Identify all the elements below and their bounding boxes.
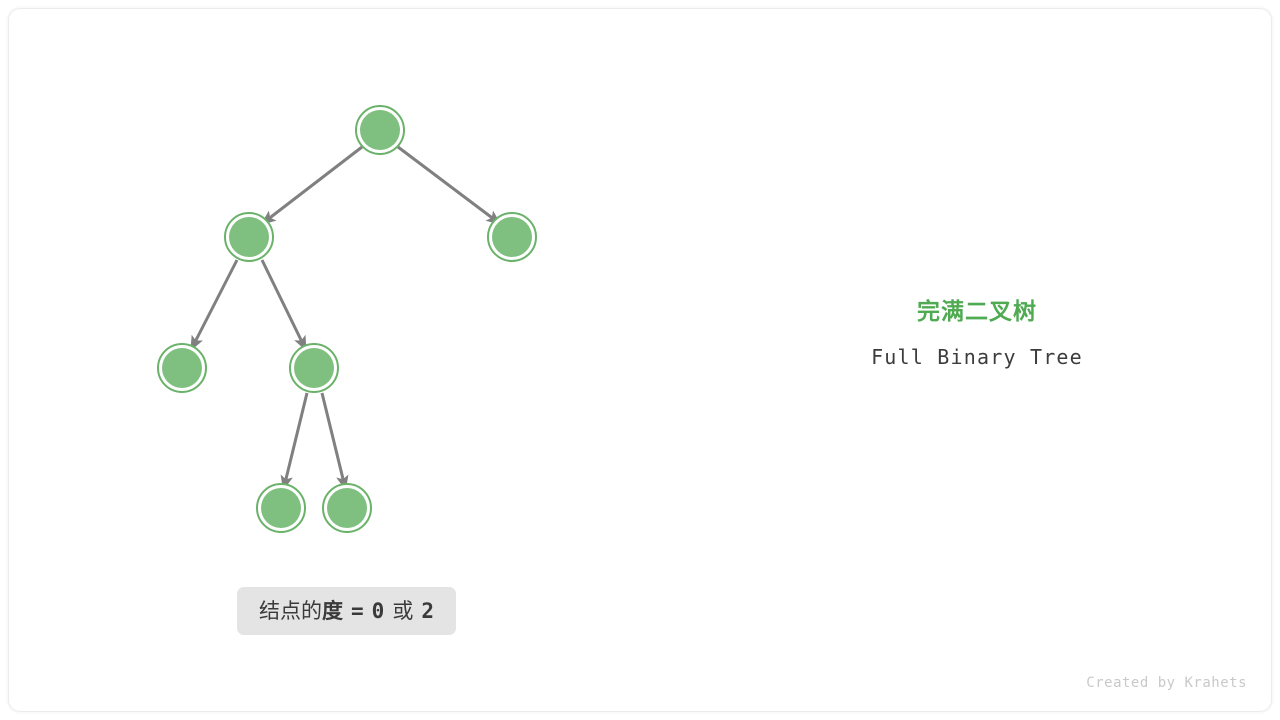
badge-value-two: 2 bbox=[421, 599, 434, 623]
edge-left-to-leftleft bbox=[194, 260, 237, 344]
tree-node-right[interactable] bbox=[488, 213, 536, 261]
tree-nodes bbox=[158, 106, 536, 532]
legend-block: 完满二叉树 Full Binary Tree bbox=[777, 297, 1177, 370]
credit-text: Created by Krahets bbox=[1086, 675, 1247, 691]
badge-value-zero: 0 bbox=[372, 599, 385, 623]
degree-badge: 结点的度=0或2 bbox=[237, 587, 456, 635]
tree-node-root[interactable] bbox=[356, 106, 404, 154]
tree-node-left-right[interactable] bbox=[290, 344, 338, 392]
badge-equals: = bbox=[351, 599, 364, 623]
edge-root-to-right bbox=[398, 147, 495, 220]
diagram-canvas: 完满二叉树 Full Binary Tree 结点的度=0或2 Created … bbox=[8, 8, 1272, 712]
edge-left-to-leftright bbox=[262, 260, 303, 344]
tree-node-leaf-2[interactable] bbox=[323, 484, 371, 532]
edge-root-to-left bbox=[267, 147, 362, 220]
diagram-title: 完满二叉树 bbox=[777, 297, 1177, 327]
badge-or: 或 bbox=[392, 599, 413, 623]
badge-label-prefix: 结点的 bbox=[259, 599, 322, 623]
badge-label-degree: 度 bbox=[322, 599, 343, 623]
diagram-subtitle: Full Binary Tree bbox=[777, 344, 1177, 370]
edge-leftright-to-child1 bbox=[285, 393, 307, 483]
edge-leftright-to-child2 bbox=[322, 393, 344, 483]
tree-node-left-left[interactable] bbox=[158, 344, 206, 392]
tree-edges bbox=[194, 147, 495, 483]
tree-node-leaf-1[interactable] bbox=[257, 484, 305, 532]
tree-node-left[interactable] bbox=[225, 213, 273, 261]
